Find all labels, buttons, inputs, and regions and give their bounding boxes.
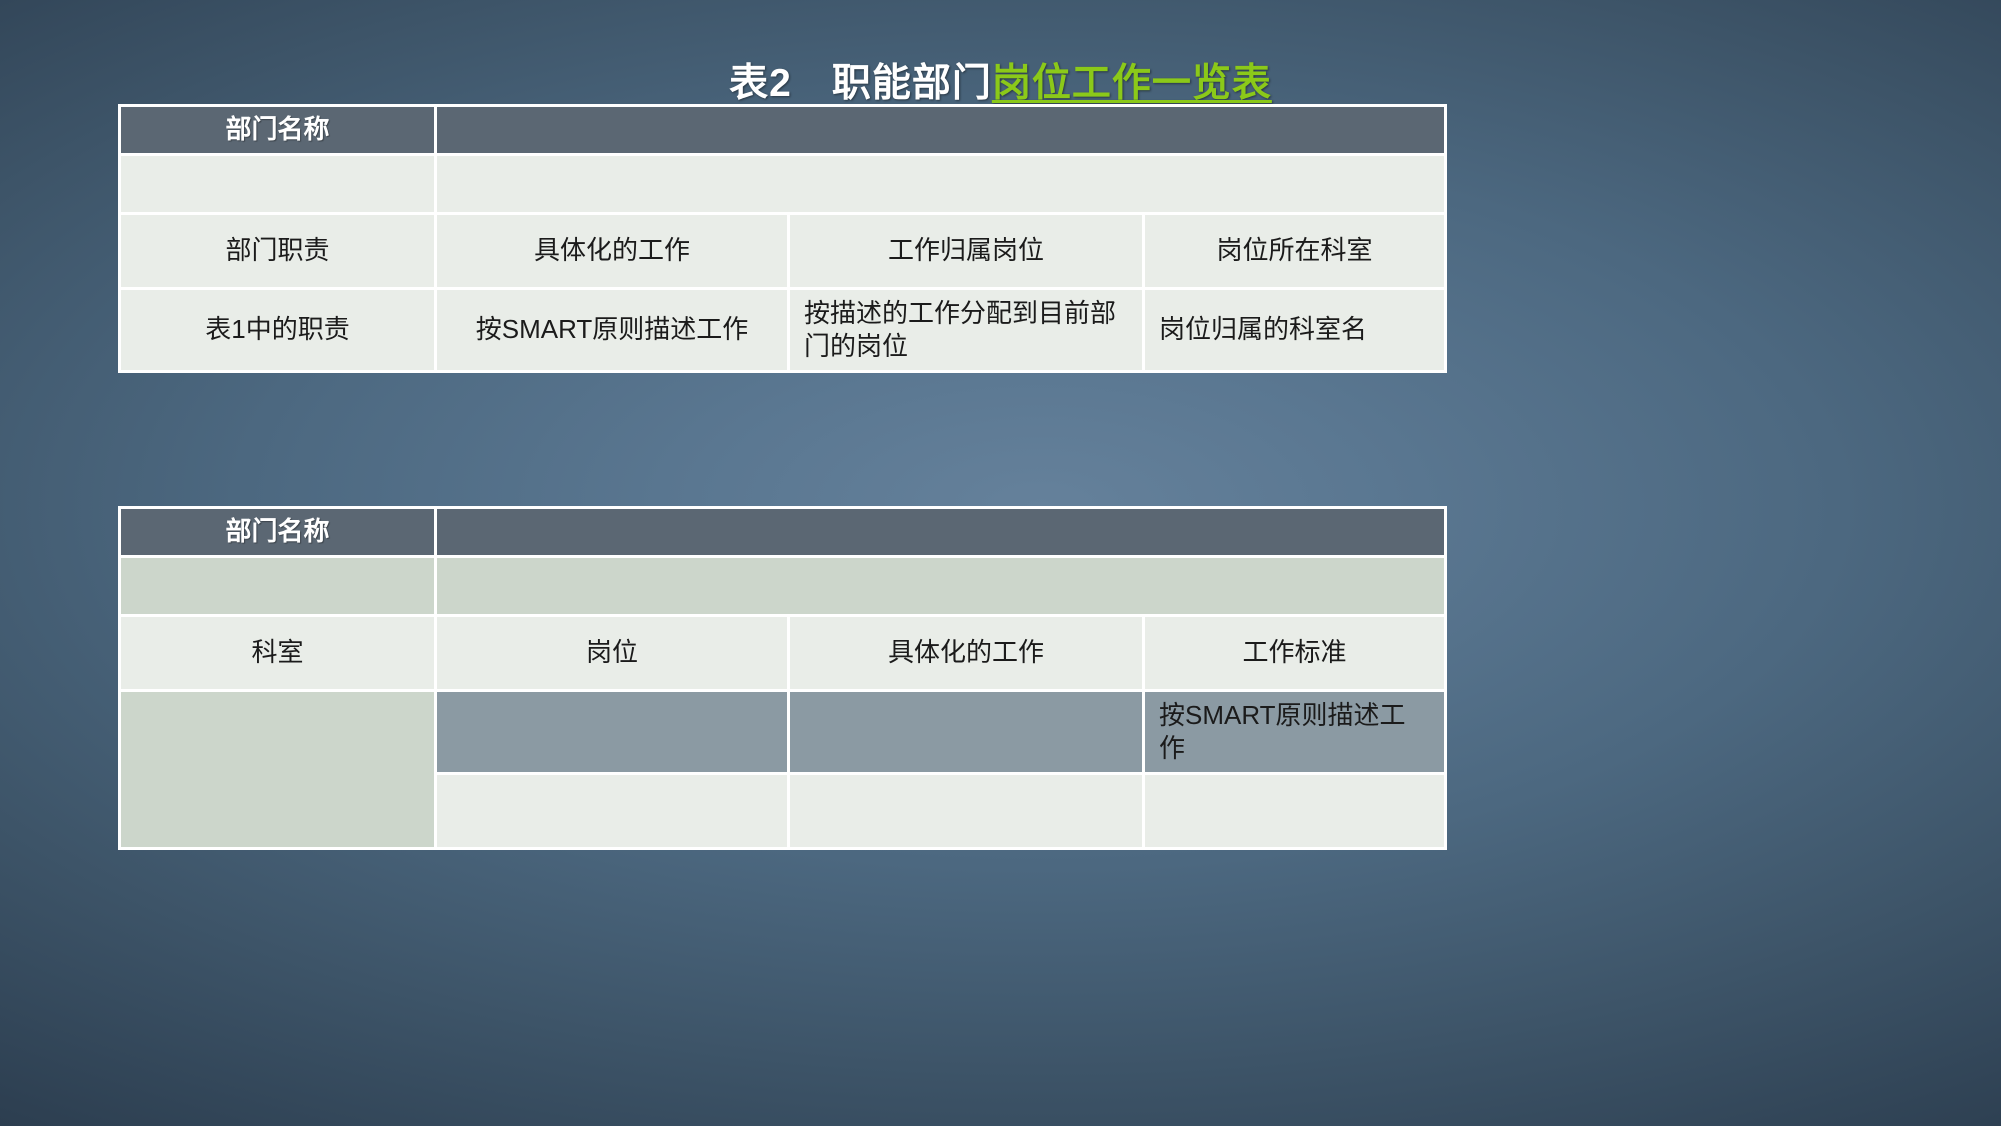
table-row: 按SMART原则描述工作 [121,692,1444,772]
table3-column-header: 具体化的工作 [790,617,1142,689]
table2-title-white: 表2 职能部门 [729,62,992,105]
table2-column-header: 岗位所在科室 [1145,215,1444,287]
table3-column-header: 科室 [121,617,434,689]
table2-column-header: 部门职责 [121,215,434,287]
table3-cell[interactable] [437,692,787,772]
table3-header-label: 部门名称 [121,509,434,555]
table2-header-value[interactable] [437,107,1444,153]
table-row: 科室 岗位 具体化的工作 工作标准 [121,617,1444,689]
table2-header-label: 部门名称 [121,107,434,153]
table-row [121,156,1444,212]
table3-cell[interactable]: 按SMART原则描述工作 [1145,692,1444,772]
table3-spacer-cell[interactable] [437,558,1444,614]
table3-cell[interactable] [1145,775,1444,847]
table3-spacer-cell[interactable] [121,558,434,614]
table-row [121,558,1444,614]
table2-title-green: 岗位工作一览表 [992,62,1272,105]
table2-spacer-cell[interactable] [121,156,434,212]
table3-header-value[interactable] [437,509,1444,555]
table-row: 表1中的职责 按SMART原则描述工作 按描述的工作分配到目前部门的岗位 岗位归… [121,290,1444,370]
table2-column-header: 工作归属岗位 [790,215,1142,287]
table2-cell[interactable]: 按描述的工作分配到目前部门的岗位 [790,290,1142,370]
table2-cell[interactable]: 按SMART原则描述工作 [437,290,787,370]
table3-cell[interactable] [790,692,1142,772]
table-row: 部门名称 [121,107,1444,153]
table2-cell[interactable]: 岗位归属的科室名 [1145,290,1444,370]
slide-canvas: 表2 职能部门岗位工作一览表 部门名称 部门职责 具体化的工作 工作归属岗位 岗… [0,0,2001,1126]
table-2: 部门名称 部门职责 具体化的工作 工作归属岗位 岗位所在科室 表1中的职责 按S… [118,104,1447,373]
table2-cell[interactable]: 表1中的职责 [121,290,434,370]
table3-cell[interactable] [790,775,1142,847]
table3-column-header: 岗位 [437,617,787,689]
table-row: 部门名称 [121,509,1444,555]
table-3: 部门名称 科室 岗位 具体化的工作 工作标准 按SMART原则描述工作 [118,506,1447,850]
table3-cell[interactable] [121,692,434,847]
table-row: 部门职责 具体化的工作 工作归属岗位 岗位所在科室 [121,215,1444,287]
table3-cell[interactable] [437,775,787,847]
table2-column-header: 具体化的工作 [437,215,787,287]
table2-title: 表2 职能部门岗位工作一览表 [0,52,2001,108]
table3-column-header: 工作标准 [1145,617,1444,689]
table2-spacer-cell[interactable] [437,156,1444,212]
